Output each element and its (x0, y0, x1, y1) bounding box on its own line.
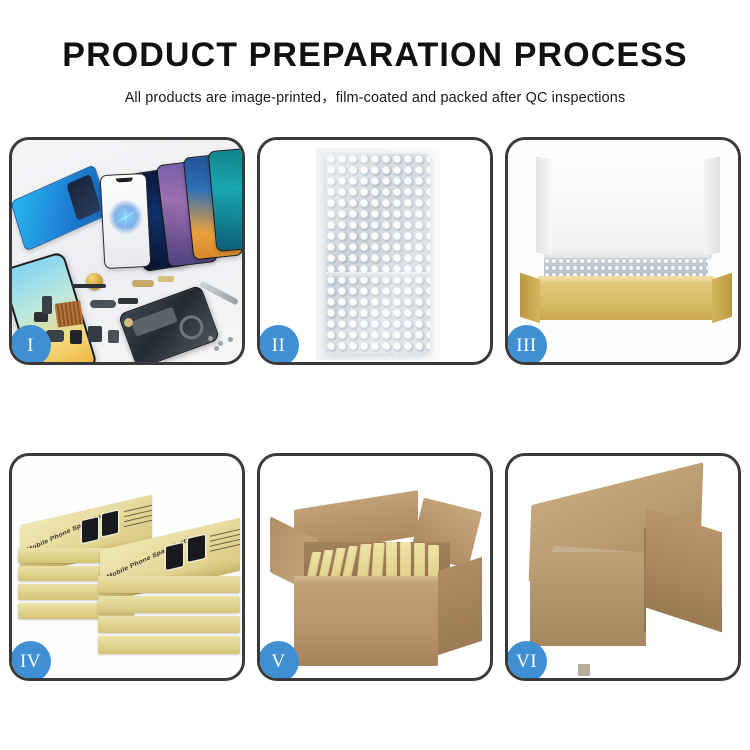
spare-part (132, 280, 154, 287)
step-4-illustration: Mobile Phone Spare Parts (12, 456, 242, 678)
retail-box-stack: Mobile Phone Spare Parts (18, 474, 242, 670)
step-panel-3[interactable]: III (505, 137, 741, 365)
step-badge-4: IV (10, 641, 51, 681)
spare-part (88, 326, 102, 342)
step-panel-1[interactable]: I (9, 137, 245, 365)
page-header: PRODUCT PREPARATION PROCESS All products… (0, 0, 750, 107)
spare-part (70, 330, 82, 344)
wallpaper-burst (107, 199, 143, 235)
spare-part (158, 276, 174, 282)
step-5-illustration (260, 456, 490, 678)
carton-edge-seam (644, 528, 646, 632)
connector-chip (54, 300, 83, 327)
carton-front-face (294, 582, 438, 666)
retail-box (98, 596, 240, 613)
page-subtitle: All products are image-printed，film-coat… (0, 75, 750, 107)
step-3-illustration (508, 140, 738, 362)
process-steps-grid: I II III (9, 137, 741, 681)
spare-part (108, 330, 119, 343)
spare-part (42, 296, 52, 314)
spare-part (72, 284, 106, 288)
step-panel-6[interactable]: VI (505, 453, 741, 681)
page-title: PRODUCT PREPARATION PROCESS (0, 0, 750, 75)
step-6-illustration (508, 456, 738, 678)
step-panel-4[interactable]: Mobile Phone Spare Parts (9, 453, 245, 681)
step-1-illustration (12, 140, 242, 362)
step-badge-6: VI (506, 641, 547, 681)
inner-box-lid (544, 154, 712, 260)
step-panel-2[interactable]: II (257, 137, 493, 365)
spare-part (90, 300, 116, 308)
carton-handle-cut (578, 664, 590, 676)
step-badge-1: I (10, 325, 51, 365)
step-badge-2: II (258, 325, 299, 365)
film-gloss (326, 154, 430, 354)
retail-box (98, 636, 240, 654)
step-badge-3: III (506, 325, 547, 365)
retail-box (98, 616, 240, 633)
spare-part (124, 318, 133, 327)
step-2-illustration (260, 140, 490, 362)
step-panel-5[interactable]: V (257, 453, 493, 681)
carton-front-face (530, 552, 646, 646)
lid-inner-face (552, 188, 704, 252)
phone-screen-fan (40, 148, 242, 263)
kraft-box-front (534, 282, 718, 320)
step-badge-5: V (258, 641, 299, 681)
screw-cluster (208, 336, 236, 350)
carton-side-face (438, 557, 482, 655)
bubble-wrapped-item (326, 154, 430, 354)
phone-notch (115, 178, 132, 183)
spare-part (118, 298, 138, 304)
phone-screen-glass (100, 173, 152, 269)
retail-box (98, 576, 240, 593)
